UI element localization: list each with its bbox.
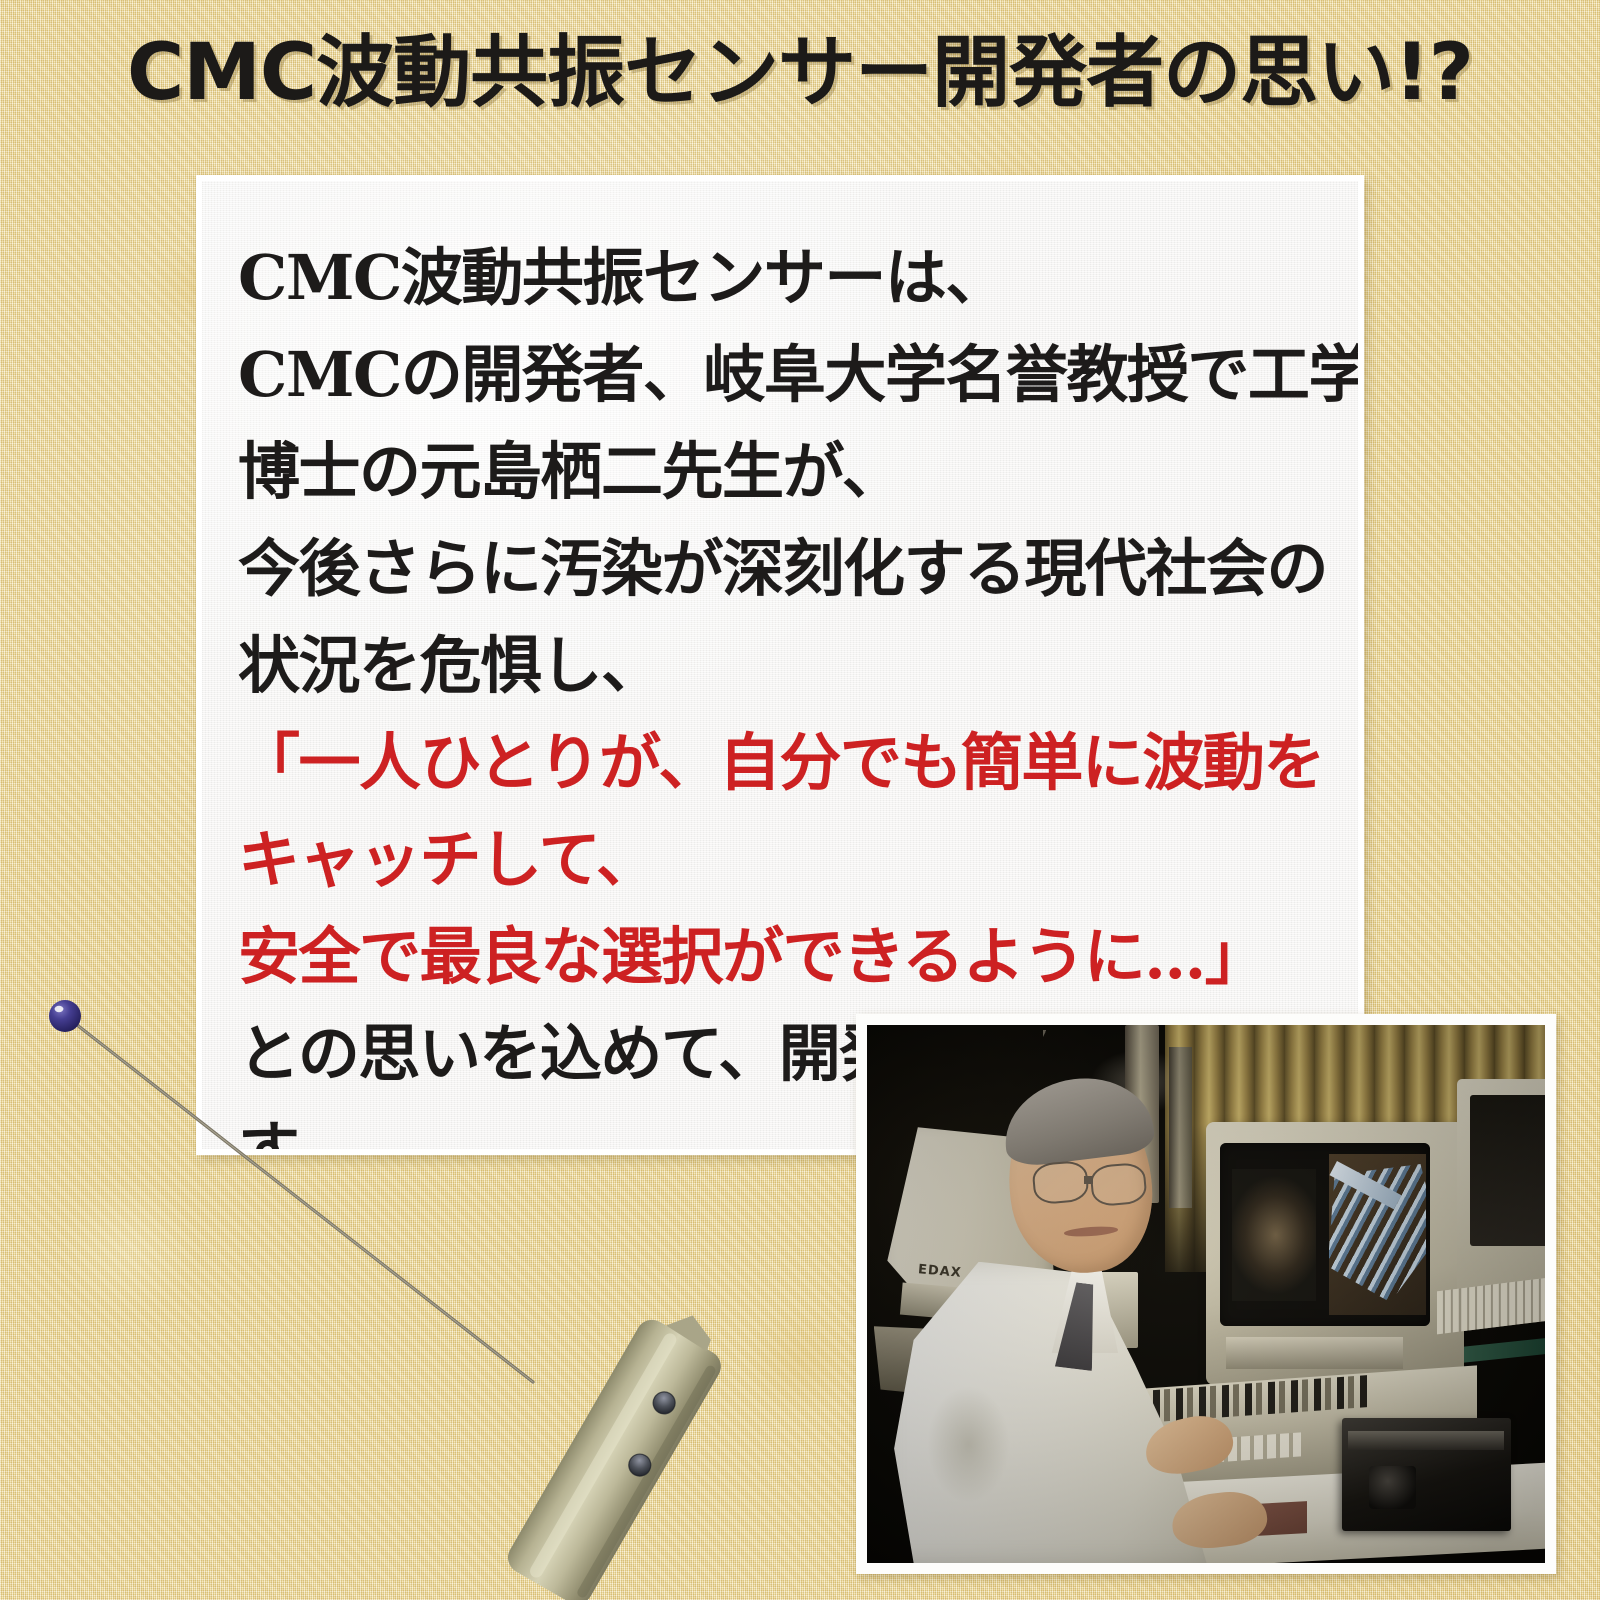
body-line-6-highlight: 「一人ひとりが、自分でも簡単に波動を [238, 714, 1348, 811]
poster-canvas: CMC波動共振センサー開発者の思い!? CMC波動共振センサーは、 CMCの開発… [0, 0, 1600, 1600]
researcher-photo-frame: EDAX [856, 1014, 1556, 1574]
eyeglasses-bridge [1084, 1176, 1093, 1184]
body-line-8-highlight: 安全で最良な選択ができるように…」 [238, 908, 1348, 1005]
lab-coat-fold [921, 1380, 1016, 1541]
crt-monitor-base [1226, 1337, 1402, 1369]
computer-screen [1470, 1095, 1545, 1246]
body-line-2: CMCの開発者、岐阜大学名誉教授で工学 [238, 326, 1348, 423]
eyeglasses-right-lens [1089, 1161, 1147, 1206]
page-title: CMC波動共振センサー開発者の思い!? [0, 34, 1600, 112]
crt-image-right-panel [1329, 1154, 1426, 1315]
body-line-1: CMC波動共振センサーは、 [238, 229, 1348, 326]
body-line-7-highlight: キャッチして、 [238, 811, 1348, 908]
sensor-bead-tip[interactable] [49, 1000, 81, 1032]
crt-monitor-screen [1220, 1143, 1430, 1326]
body-line-3: 博士の元島栖二先生が、 [238, 423, 1348, 520]
body-copy: CMC波動共振センサーは、 CMCの開発者、岐阜大学名誉教授で工学 博士の元島栖… [238, 229, 1348, 1149]
microscope-column-tube-secondary [1169, 1047, 1193, 1208]
text-card: CMC波動共振センサーは、 CMCの開発者、岐阜大学名誉教授で工学 博士の元島栖… [196, 175, 1364, 1155]
researcher-photo: EDAX [867, 1025, 1545, 1563]
film-camera-strip [1348, 1431, 1504, 1450]
card-paper-surface: CMC波動共振センサーは、 CMCの開発者、岐阜大学名誉教授で工学 博士の元島栖… [202, 181, 1358, 1149]
body-line-5: 状況を危惧し、 [238, 617, 1348, 714]
crt-image-left-panel [1232, 1169, 1316, 1301]
body-line-4: 今後さらに汚染が深刻化する現代社会の [238, 520, 1348, 617]
film-camera-lens [1369, 1466, 1416, 1509]
